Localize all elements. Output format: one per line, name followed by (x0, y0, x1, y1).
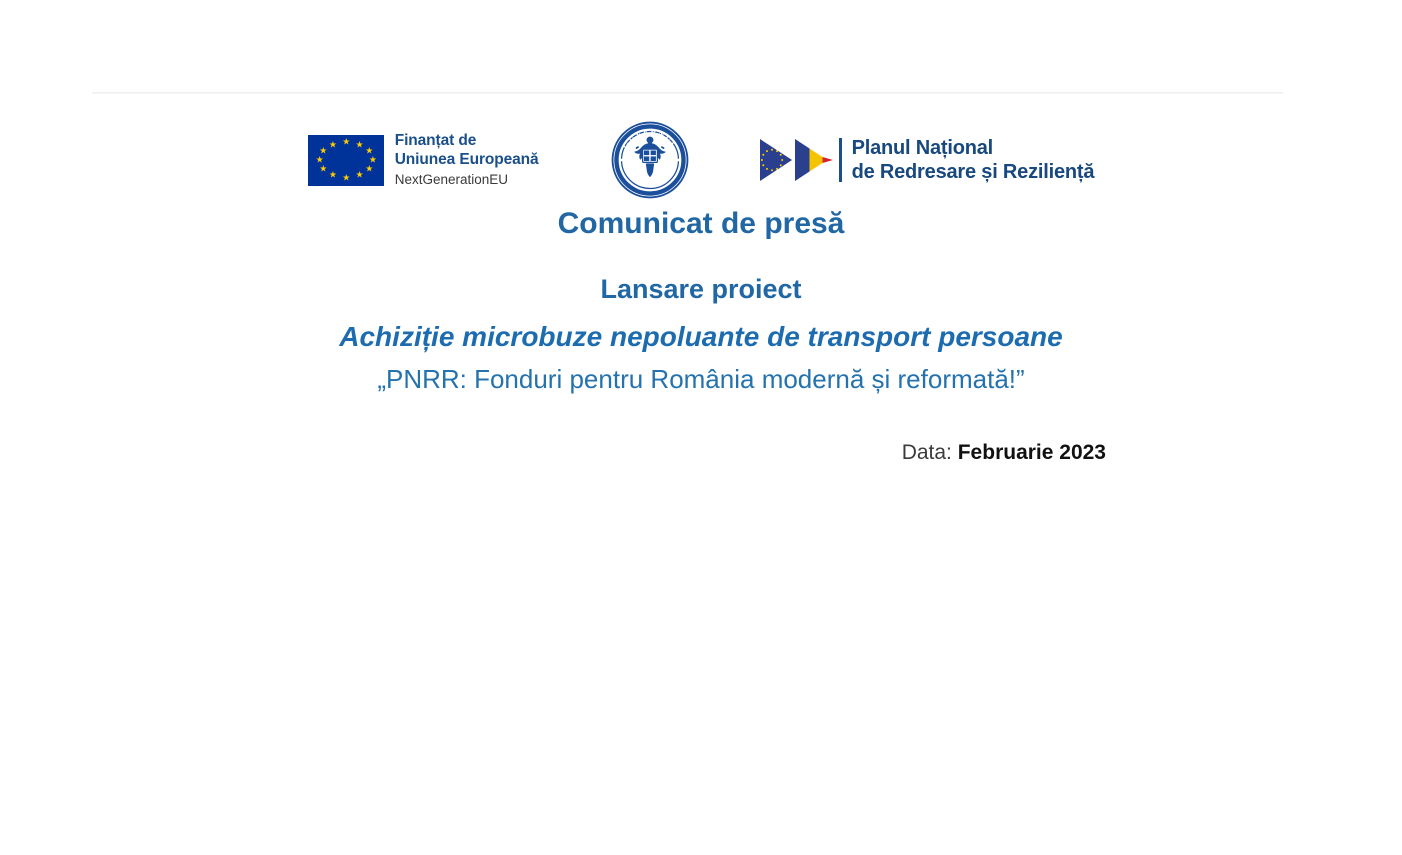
pnrr-logo-line1: Planul Național (852, 136, 1095, 160)
project-name: Achiziție microbuze nepoluante de transp… (0, 323, 1402, 351)
date-line: Data: Februarie 2023 (0, 440, 1106, 465)
eu-star-icon: ★ (319, 148, 326, 155)
eu-funding-logo: ★ ★ ★ ★ ★ ★ ★ ★ ★ ★ ★ ★ Finanțat de Uniu… (308, 132, 539, 188)
eu-logo-line3: NextGenerationEU (395, 172, 539, 188)
date-label: Data: (902, 441, 952, 464)
press-release-page: ★ ★ ★ ★ ★ ★ ★ ★ ★ ★ ★ ★ Finanțat de Uniu… (0, 0, 1402, 855)
eu-star-icon: ★ (319, 165, 326, 172)
eu-star-icon: ★ (365, 165, 372, 172)
guvernul-romaniei-seal-icon: GUVERNUL ROMÂNIEI (611, 121, 689, 199)
funding-logo-band: ★ ★ ★ ★ ★ ★ ★ ★ ★ ★ ★ ★ Finanțat de Uniu… (0, 118, 1402, 202)
header-divider-rule (92, 92, 1283, 94)
project-slogan: „PNRR: Fonduri pentru România modernă și… (0, 366, 1402, 392)
pnrr-logo-line2: de Redresare și Reziliență (852, 160, 1095, 184)
eu-flag-icon: ★ ★ ★ ★ ★ ★ ★ ★ ★ ★ ★ ★ (308, 135, 384, 186)
eu-logo-line2: Uniunea Europeană (395, 151, 539, 170)
project-launch-label: Lansare proiect (0, 276, 1402, 303)
pnrr-logo-text: Planul Național de Redresare și Rezilien… (852, 136, 1095, 184)
eu-logo-line1: Finanțat de (395, 132, 539, 151)
eu-star-icon: ★ (329, 141, 336, 148)
eu-star-icon: ★ (316, 157, 323, 164)
pnrr-divider (839, 138, 842, 182)
page-title: Comunicat de presă (0, 207, 1402, 241)
eu-logo-text: Finanțat de Uniunea Europeană NextGenera… (395, 132, 539, 188)
date-value: Februarie 2023 (958, 441, 1106, 464)
pnrr-logo: Planul Național de Redresare și Rezilien… (759, 136, 1095, 184)
eu-star-icon: ★ (356, 141, 363, 148)
eu-star-icon: ★ (356, 172, 363, 179)
eu-star-icon: ★ (365, 148, 372, 155)
eu-star-icon: ★ (342, 174, 349, 181)
project-subtitle-block: Lansare proiect Achiziție microbuze nepo… (0, 276, 1402, 392)
eu-star-icon: ★ (342, 139, 349, 146)
pnrr-arrows-icon (759, 137, 834, 183)
eu-star-icon: ★ (329, 172, 336, 179)
